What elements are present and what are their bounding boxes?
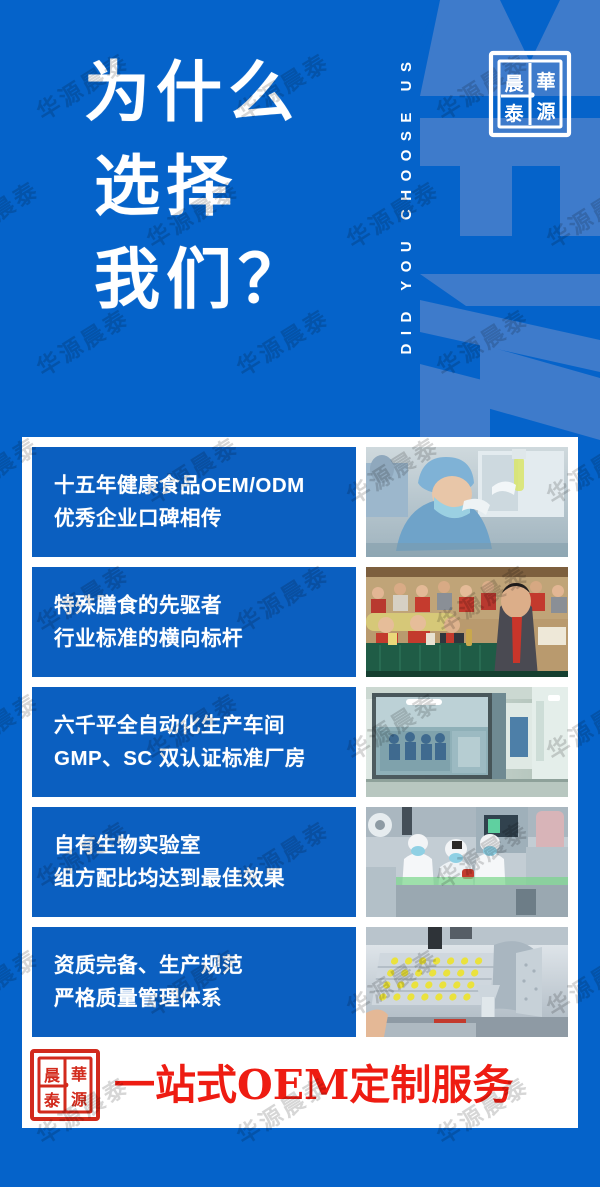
svg-text:晨: 晨 — [504, 73, 524, 95]
feature-card-5-line-2: 严格质量管理体系 — [54, 982, 356, 1015]
feature-card-1-line-2: 优秀企业口碑相传 — [54, 502, 356, 535]
feature-card-2[interactable]: 特殊膳食的先驱者 行业标准的横向标杆 — [32, 567, 568, 677]
lab-technician-photo — [366, 447, 568, 557]
poster-root: 为什么 选择 我们？ DID YOU CHOOSE US 晨 泰 華 源 — [0, 0, 600, 1187]
cta-banner-text: 一站式OEM定制服务 — [102, 1065, 513, 1106]
feature-card-4-line-2: 组方配比均达到最佳效果 — [54, 862, 356, 895]
features-card-list: 十五年健康食品OEM/ODM 优秀企业口碑相传 — [32, 447, 568, 1037]
feature-card-5-line-1: 资质完备、生产规范 — [54, 949, 356, 982]
feature-card-4-line-1: 自有生物实验室 — [54, 829, 356, 862]
feature-card-5[interactable]: 资质完备、生产规范 严格质量管理体系 — [32, 927, 568, 1037]
features-panel: 十五年健康食品OEM/ODM 优秀企业口碑相传 — [22, 437, 578, 1128]
production-line-staff-photo — [366, 807, 568, 917]
feature-card-1[interactable]: 十五年健康食品OEM/ODM 优秀企业口碑相传 — [32, 447, 568, 557]
feature-card-2-line-1: 特殊膳食的先驱者 — [54, 589, 356, 622]
headline-line-2: 选择 — [84, 140, 600, 234]
feature-card-1-text: 十五年健康食品OEM/ODM 优秀企业口碑相传 — [32, 447, 356, 557]
feature-card-3-text: 六千平全自动化生产车间 GMP、SC 双认证标准厂房 — [32, 687, 356, 797]
brand-seal-icon: 晨 泰 華 源 — [486, 48, 574, 140]
feature-card-4-text: 自有生物实验室 组方配比均达到最佳效果 — [32, 807, 356, 917]
svg-text:源: 源 — [71, 1090, 87, 1109]
feature-card-3-line-2: GMP、SC 双认证标准厂房 — [54, 742, 356, 775]
vertical-english-text: DID YOU CHOOSE US — [398, 14, 415, 394]
feature-card-5-text: 资质完备、生产规范 严格质量管理体系 — [32, 927, 356, 1037]
svg-text:華: 華 — [536, 70, 555, 93]
feature-card-1-line-1: 十五年健康食品OEM/ODM — [54, 469, 356, 502]
headline-line-3: 我们？ — [84, 233, 600, 327]
feature-card-4[interactable]: 自有生物实验室 组方配比均达到最佳效果 — [32, 807, 568, 917]
feature-card-2-text: 特殊膳食的先驱者 行业标准的横向标杆 — [32, 567, 356, 677]
cta-banner[interactable]: 晨 泰 華 源 一站式OEM定制服务 — [22, 1042, 558, 1128]
cleanroom-corridor-photo — [366, 687, 568, 797]
brand-red-seal-icon: 晨 泰 華 源 — [28, 1047, 102, 1123]
feature-card-3-line-1: 六千平全自动化生产车间 — [54, 709, 356, 742]
vertical-english-caption: DID YOU CHOOSE US — [398, 14, 428, 394]
svg-text:泰: 泰 — [43, 1091, 61, 1110]
feature-card-2-line-2: 行业标准的横向标杆 — [54, 622, 356, 655]
blister-packing-machine-photo — [366, 927, 568, 1037]
feature-card-3[interactable]: 六千平全自动化生产车间 GMP、SC 双认证标准厂房 — [32, 687, 568, 797]
conference-audience-photo — [366, 567, 568, 677]
svg-text:晨: 晨 — [44, 1066, 61, 1085]
svg-text:華: 華 — [71, 1065, 87, 1084]
svg-text:泰: 泰 — [503, 102, 524, 125]
svg-text:源: 源 — [536, 100, 555, 123]
